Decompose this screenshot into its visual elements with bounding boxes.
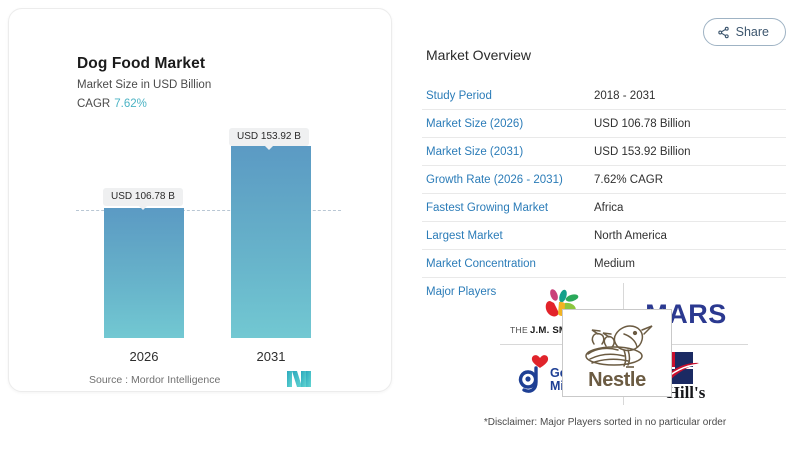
row-key: Growth Rate (2026 - 2031) (422, 174, 594, 186)
table-row: Growth Rate (2026 - 2031) 7.62% CAGR (422, 166, 786, 194)
row-key: Market Size (2026) (422, 118, 594, 130)
row-value: USD 106.78 Billion (594, 118, 786, 130)
svg-text:THE: THE (510, 325, 528, 335)
bar-chart-plot: USD 106.78 B USD 153.92 B 2026 2031 (9, 9, 393, 393)
row-value: USD 153.92 Billion (594, 146, 786, 158)
table-row: Market Concentration Medium (422, 250, 786, 278)
row-key: Market Size (2031) (422, 146, 594, 158)
bar-2031[interactable] (231, 146, 311, 338)
market-overview-title: Market Overview (426, 47, 531, 63)
row-value: Africa (594, 202, 786, 214)
share-button-label: Share (736, 25, 769, 39)
row-key: Largest Market (422, 230, 594, 242)
table-row: Study Period 2018 - 2031 (422, 82, 786, 110)
table-row: Fastest Growing Market Africa (422, 194, 786, 222)
table-row: Largest Market North America (422, 222, 786, 250)
table-row: Market Size (2026) USD 106.78 Billion (422, 110, 786, 138)
x-axis-tick-2026: 2026 (104, 349, 184, 364)
svg-text:Hill's: Hill's (667, 383, 706, 402)
row-value: 7.62% CAGR (594, 174, 786, 186)
major-players-logo-grid: THE J.M. SMUCKER Co MARS General Mills (500, 283, 748, 405)
x-axis-tick-2031: 2031 (231, 349, 311, 364)
row-value: 2018 - 2031 (594, 90, 786, 102)
row-value: Medium (594, 258, 786, 270)
source-label: Source : Mordor Intelligence (89, 374, 220, 386)
share-button[interactable]: Share (703, 18, 786, 46)
row-key: Market Concentration (422, 258, 594, 270)
share-icon (717, 26, 730, 39)
row-key: Fastest Growing Market (422, 202, 594, 214)
bar-value-label-2026: USD 106.78 B (103, 188, 183, 206)
market-overview-table: Study Period 2018 - 2031 Market Size (20… (422, 82, 786, 305)
nestle-logo: Nestle (562, 309, 672, 397)
table-row: Market Size (2031) USD 153.92 Billion (422, 138, 786, 166)
row-value: North America (594, 230, 786, 242)
bar-2026[interactable] (104, 208, 184, 338)
mordor-intelligence-logo (287, 371, 311, 387)
svg-text:Nestle: Nestle (588, 369, 646, 391)
chart-card: Dog Food Market Market Size in USD Billi… (8, 8, 392, 392)
disclaimer-text: *Disclaimer: Major Players sorted in no … (424, 417, 786, 428)
row-key: Study Period (422, 90, 594, 102)
bar-value-label-2031: USD 153.92 B (229, 128, 309, 146)
